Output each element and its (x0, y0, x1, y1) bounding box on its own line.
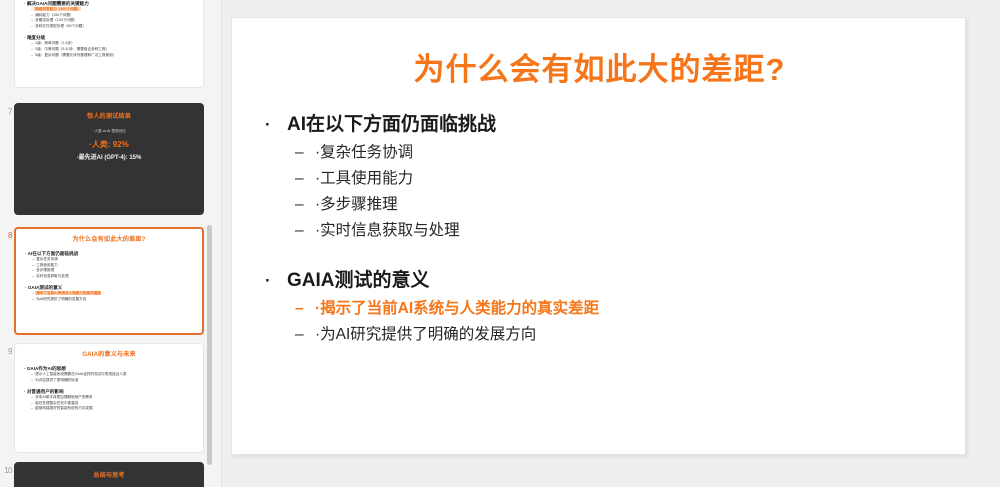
thumbnail-line: ·复杂任务协调 (35, 257, 58, 261)
dash-icon: – (295, 192, 315, 218)
thumbnail-title: GAIA的意义与未来 (24, 351, 194, 359)
slide-thumbnail[interactable]: 总结与思考· 核心要点回顾与思考 (14, 462, 204, 487)
thumbnail-row: 9GAIA的意义与未来· GAIA作为AI的思想– ·提示人工智能系统需要在GA… (0, 343, 222, 453)
thumbnail-line: ·实时信息获取与处理 (35, 274, 69, 278)
thumbnail-content: 解决GAIA问题需要的关键能力· 解决GAIA问题需要的关键能力– ·网络浏览能… (15, 0, 203, 65)
thumbnail-title: 总结与思考 (25, 472, 193, 480)
thumbnail-line: 解决GAIA问题需要的关键能力 (27, 1, 89, 6)
thumbnail-content: GAIA的意义与未来· GAIA作为AI的思想– ·提示人工智能系统需要在GAI… (15, 344, 203, 419)
thumbnail-line: 对普通用户的影响 (27, 389, 64, 394)
thumbnail-line: ·2级：中等问题（5-10步，需要组合多种工具） (34, 47, 109, 51)
slide-thumbnail[interactable]: 解决GAIA问题需要的关键能力· 解决GAIA问题需要的关键能力– ·网络浏览能… (14, 0, 204, 88)
bullet-sub-item: –·揭示了当前AI系统与人类能力的真实差距 (265, 296, 935, 322)
thumbnail-line: ·为AI研究提供了明确的发展方向 (35, 297, 86, 301)
thumbnail-line: ·工具使用能力 (35, 263, 58, 267)
bullet-sub-item: –·实时信息获取与处理 (265, 218, 935, 244)
thumbnail-line: · 人类 vs AI 表现对比 (25, 129, 193, 135)
thumbnail-line: ·多模态处理（100个问题） (34, 18, 77, 22)
thumbnail-line: ·人类: 92% (25, 139, 193, 150)
bullet-heading-label: AI在以下方面仍面临挑战 (287, 110, 496, 140)
thumbnail-row: 7惊人的测试结果· 人类 vs AI 表现对比·人类: 92%·最先进AI (G… (0, 103, 222, 215)
dash-icon: – (295, 296, 315, 322)
slide-number: 10 (0, 462, 14, 476)
bullet-sub-label: ·复杂任务协调 (315, 140, 413, 166)
thumbnail-content: 总结与思考· 核心要点回顾与思考 (15, 463, 203, 487)
bullet-sub-label: ·实时信息获取与处理 (315, 218, 460, 244)
bullet-sub-label: ·揭示了当前AI系统与人类能力的真实差距 (315, 296, 599, 322)
bullet-heading-label: GAIA测试的意义 (287, 266, 430, 296)
dash-icon: – (295, 140, 315, 166)
thumbnail-line: ·多种文件类型处理（50个问题） (34, 24, 86, 28)
thumbnail-line: ·网络浏览能力（300个问题） (34, 7, 81, 11)
slide-title: 为什么会有如此大的差距? (232, 44, 966, 89)
slide-body: ·AI在以下方面仍面临挑战–·复杂任务协调–·工具使用能力–·多步骤推理–·实时… (265, 110, 935, 370)
thumbnail-line: GAIA测试的意义 (28, 285, 62, 290)
dash-icon: – (295, 322, 315, 348)
thumbnail-line: ·为评估提供了更明确的标准 (34, 378, 78, 382)
bullet-dot-icon: · (265, 266, 287, 296)
thumbnail-title: 惊人的测试结果 (25, 113, 193, 121)
thumbnail-line: ·多步骤推理 (35, 268, 54, 272)
dash-icon: – (295, 166, 315, 192)
thumbnail-line: ·1级：简单问题（1-5步） (34, 41, 75, 45)
slide-thumbnail[interactable]: 惊人的测试结果· 人类 vs AI 表现对比·人类: 92%·最先进AI (GP… (14, 103, 204, 215)
slide-thumbnail-panel[interactable]: 解决GAIA问题需要的关键能力· 解决GAIA问题需要的关键能力– ·网络浏览能… (0, 0, 222, 487)
thumbnail-line: ·揭示了当前AI系统与人类能力的真实差距 (35, 291, 101, 295)
thumbnail-line: 难度分级 (27, 35, 45, 40)
thumbnail-line: ·能够构建更好的智能系统的方向发展 (34, 406, 93, 410)
thumbnail-row: 解决GAIA问题需要的关键能力· 解决GAIA问题需要的关键能力– ·网络浏览能… (0, 0, 222, 88)
thumbnail-title: 为什么会有如此大的差距? (25, 236, 193, 244)
scrollbar-thumb[interactable] (207, 225, 212, 465)
bullet-sub-label: ·工具使用能力 (315, 166, 413, 192)
slide-number: 8 (0, 227, 14, 241)
dash-icon: – (295, 218, 315, 244)
content-block: ·AI在以下方面仍面临挑战–·复杂任务协调–·工具使用能力–·多步骤推理–·实时… (265, 110, 935, 244)
thumbnail-line: ·3级：复杂问题（需要长序列推理和广泛工具使用） (34, 53, 116, 57)
thumbnail-row: 10总结与思考· 核心要点回顾与思考 (0, 462, 222, 487)
bullet-sub-label: ·多步骤推理 (315, 192, 398, 218)
slide-stage: 为什么会有如此大的差距? ·AI在以下方面仍面临挑战–·复杂任务协调–·工具使用… (222, 0, 1000, 487)
thumbnail-line: ·最先进AI (GPT-4): 15% (25, 154, 193, 163)
presentation-editor: 解决GAIA问题需要的关键能力· 解决GAIA问题需要的关键能力– ·网络浏览能… (0, 0, 1000, 487)
thumbnail-content: 为什么会有如此大的差距?· AI在以下方面仍面临挑战– ·复杂任务协调– ·工具… (16, 229, 202, 310)
current-slide[interactable]: 为什么会有如此大的差距? ·AI在以下方面仍面临挑战–·复杂任务协调–·工具使用… (231, 17, 966, 455)
bullet-dot-icon: · (265, 110, 287, 140)
slide-thumbnail[interactable]: 为什么会有如此大的差距?· AI在以下方面仍面临挑战– ·复杂任务协调– ·工具… (14, 227, 204, 335)
scrollbar-track[interactable] (210, 0, 217, 487)
bullet-heading: ·GAIA测试的意义 (265, 266, 935, 296)
bullet-sub-item: –·工具使用能力 (265, 166, 935, 192)
bullet-sub-item: –·为AI研究提供了明确的发展方向 (265, 322, 935, 348)
slide-number: 7 (0, 103, 14, 117)
content-block: ·GAIA测试的意义–·揭示了当前AI系统与人类能力的真实差距–·为AI研究提供… (265, 266, 935, 348)
bullet-sub-item: –·多步骤推理 (265, 192, 935, 218)
thumbnail-line: ·能在处理复杂任务中更高效 (34, 401, 78, 405)
thumbnail-row: 8为什么会有如此大的差距?· AI在以下方面仍面临挑战– ·复杂任务协调– ·工… (0, 227, 222, 335)
slide-thumbnail[interactable]: GAIA的意义与未来· GAIA作为AI的思想– ·提示人工智能系统需要在GAI… (14, 343, 204, 453)
slide-number: 9 (0, 343, 14, 357)
thumbnail-line: ·提示人工智能系统需要在GAIA这样的测试中表现接近人类 (34, 372, 126, 376)
bullet-sub-item: –·复杂任务协调 (265, 140, 935, 166)
thumbnail-content: 惊人的测试结果· 人类 vs AI 表现对比·人类: 92%·最先进AI (GP… (15, 104, 203, 176)
thumbnail-line: ·未来AI助手将更加理解使用户的需求 (34, 395, 93, 399)
thumbnail-line: ·编码能力（150个问题） (34, 13, 74, 17)
thumbnail-line: AI在以下方面仍面临挑战 (28, 251, 79, 256)
bullet-sub-label: ·为AI研究提供了明确的发展方向 (315, 322, 536, 348)
bullet-heading: ·AI在以下方面仍面临挑战 (265, 110, 935, 140)
thumbnail-line: GAIA作为AI的思想 (27, 366, 66, 371)
